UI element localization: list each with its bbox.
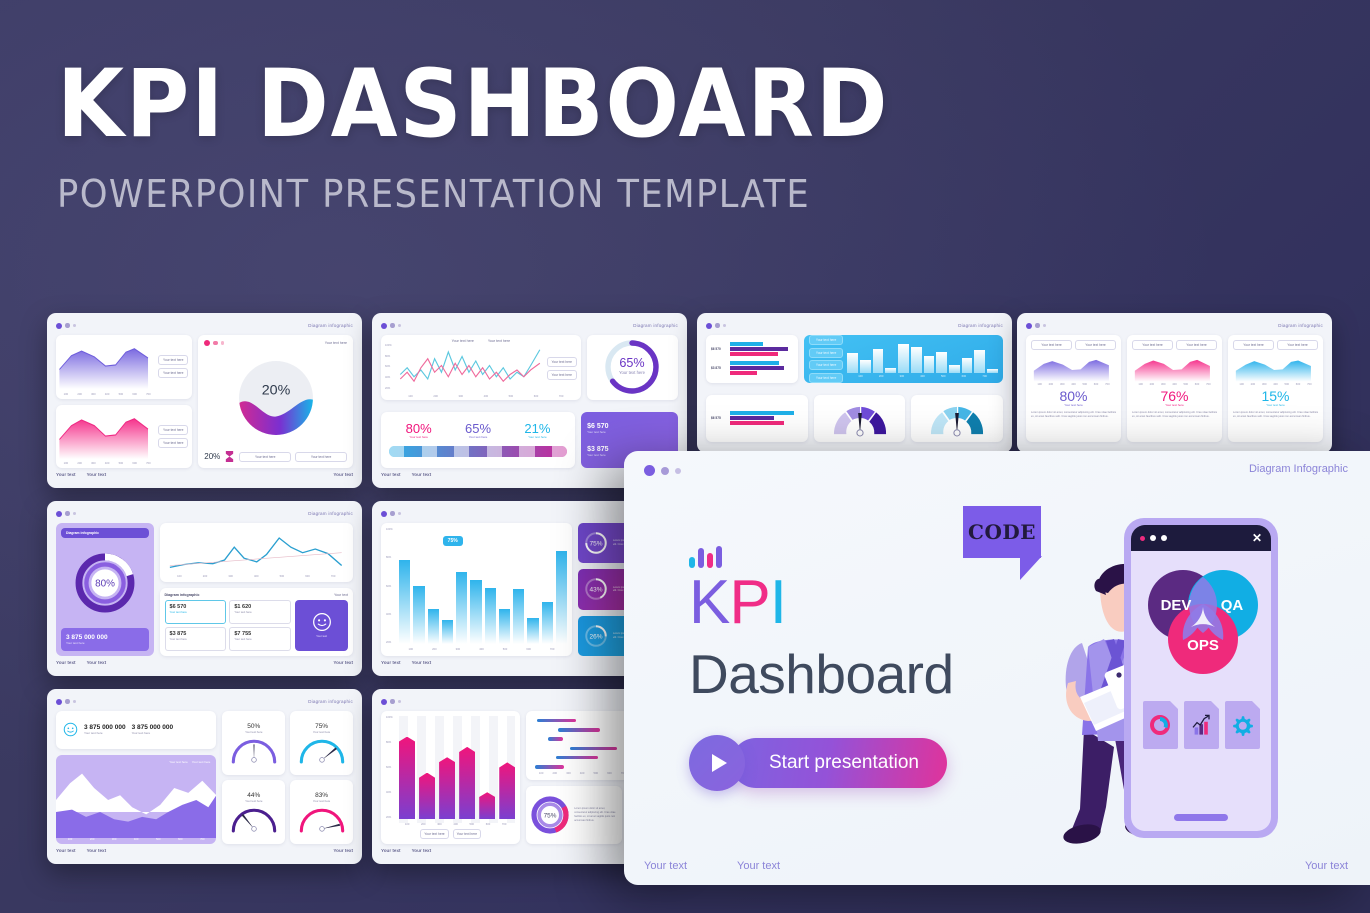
slide-tag: Diagram Infographic (1249, 463, 1348, 475)
thumb-tag: Diagram infographic (958, 323, 1003, 328)
axis-tick: 400 (920, 375, 924, 378)
axis-tick: 100 (1037, 383, 1041, 386)
axis-tick: 600 (1195, 383, 1199, 386)
axis-tick: 400 (254, 575, 258, 578)
footer-text-right: Your text (333, 660, 353, 665)
axis-tick: 200 (1150, 383, 1154, 386)
gauge-card-75[interactable]: 75% Your text here (290, 711, 353, 775)
hourglass-icon (224, 450, 235, 463)
footer-text-right: Your text (333, 472, 353, 477)
gauge-icon-44 (228, 803, 280, 833)
axis-tick: 200 (432, 648, 436, 651)
axis-tick: 600 (305, 575, 309, 578)
footer-text-right: Your text (1305, 860, 1348, 872)
thumb-tag: Diagram infographic (1278, 323, 1323, 328)
window-dots-icon (1026, 323, 1046, 329)
kpi-logo-text: KPI (689, 572, 989, 634)
axis-tick: 400 (1172, 383, 1176, 386)
ring-icon: 26% (583, 623, 609, 649)
axis-tick: 300 (91, 462, 95, 465)
thumb-header: Diagram infographic (56, 321, 353, 330)
window-dots-icon (56, 323, 76, 329)
chip-label[interactable]: Your text here (1233, 340, 1274, 350)
axis-tick: 100 (405, 823, 409, 826)
value-tile[interactable]: $3 875 Your text here (165, 627, 227, 651)
y-axis-tick: 20% (385, 387, 398, 390)
gauge-card-83[interactable]: 83% Your text here (290, 780, 353, 844)
donut-text-card[interactable]: 75% Lorem ipsum dolor sit amet, consecte… (526, 786, 622, 845)
kpi-caption: Your text here (406, 435, 432, 439)
axis-tick: 500 (119, 462, 123, 465)
axis-tick: 700 (1307, 383, 1311, 386)
logo-letter-k: K (689, 568, 729, 637)
ring-icon: 43% (583, 576, 609, 602)
y-axis-tick: 40% (385, 376, 398, 379)
ring-icon: 75% (583, 530, 609, 556)
axis-tick: 600 (132, 393, 136, 396)
stat-caption: Your text here (132, 731, 174, 735)
y-axis-tick: 80% (386, 741, 399, 744)
window-dots-icon (381, 511, 401, 517)
gear-icon (1225, 701, 1260, 749)
footer-text: Your text (381, 660, 401, 665)
axis-tick: 400 (1071, 383, 1075, 386)
smiley-caption: Your text (316, 634, 327, 638)
venn-label-dev: DEV (1161, 597, 1192, 614)
row-label: $3 875 (711, 366, 727, 370)
row-label: $6 570 (711, 347, 727, 351)
axis-tick: 700 (559, 395, 563, 398)
caption: Your text here (234, 610, 286, 614)
axis-tick: 400 (105, 393, 109, 396)
column-chart-pink (399, 716, 515, 823)
slide-thumbnail-area-donut[interactable]: Diagram infographic 100 200 300 400 (47, 313, 362, 488)
axis-tick: 300 (566, 772, 570, 775)
caption: Your text here (170, 610, 222, 614)
chip-label[interactable]: Your text here (809, 335, 843, 345)
kpi-item: 65% Your text here (465, 422, 491, 439)
big-number: 3 875 000 000 (66, 634, 144, 641)
axis-tick: 600 (534, 395, 538, 398)
donut-panel[interactable]: Diagram infographic 80% 3 875 000 000 Yo… (56, 523, 154, 656)
smiley-icon (63, 722, 78, 737)
axis-tick: 100 (68, 838, 72, 841)
gauge-value: 50% (247, 723, 260, 730)
axis-tick: 100 (858, 375, 862, 378)
section-label: Diagram infographic (165, 593, 200, 597)
y-axis-tick: 100% (386, 528, 399, 531)
stat-value: 20% (204, 452, 220, 461)
axis-tick: 300 (900, 375, 904, 378)
panel-label: Your text here (325, 341, 347, 345)
axis-tick: 100 (177, 575, 181, 578)
area-chart-panel[interactable]: Your text here Your text here 100 200 30… (56, 755, 216, 844)
featured-slide[interactable]: Diagram Infographic KPI Dashboard Start … (624, 451, 1370, 885)
value-tile[interactable]: $1 620 Your text here (229, 600, 291, 624)
axis-tick: 100 (408, 395, 412, 398)
metric-body: Lorem ipsum dolor sit amet, consectetur … (1031, 411, 1116, 419)
axis-tick: 700 (982, 375, 986, 378)
slide-thumbnail-three-cards[interactable]: Diagram infographic Your text here Your … (1017, 313, 1332, 453)
area-chart-card-pink[interactable]: 100 200 300 400 500 600 700 Your text he… (56, 405, 192, 469)
metric-value: 15% (1233, 389, 1318, 403)
axis-tick: 700 (331, 575, 335, 578)
chip-label[interactable]: Your text here (1075, 340, 1116, 350)
chip-label[interactable]: Your text here (547, 370, 577, 380)
axis-tick: 200 (77, 393, 81, 396)
gauge-value: 75% (315, 723, 328, 730)
growth-chart-icon (1184, 701, 1219, 749)
row-label: $6 575 (711, 416, 727, 420)
area-chart-purple (56, 335, 158, 393)
axis-tick: 300 (228, 575, 232, 578)
line-chart-dual (398, 343, 547, 395)
line-chart-trend (164, 527, 349, 575)
caption: Your text here (587, 430, 672, 434)
footer-text: Your text (644, 860, 687, 872)
footer-text: Your text (87, 660, 107, 665)
kpi-caption: Your text here (524, 435, 550, 439)
hbar-card-1[interactable]: $6 570 $3 875 (706, 335, 798, 383)
stat-caption: Your text here (84, 731, 126, 735)
metric-caption: Your text here (1031, 403, 1116, 407)
ring-caption: Your text here (619, 371, 646, 376)
axis-tick: 400 (453, 823, 457, 826)
footer-text: Your text (56, 848, 76, 853)
axis-tick: 500 (1285, 383, 1289, 386)
chip-label: Your text here (192, 760, 211, 764)
axis-tick: 500 (470, 823, 474, 826)
hbar-card-2[interactable]: $6 575 (706, 395, 808, 443)
metric-card-purple[interactable]: Your text here Your text here 100 200 30… (1026, 335, 1121, 442)
stat-value: 3 875 000 000 (84, 724, 126, 731)
bar-chart-card[interactable]: 100% 80% 60% 40% 20% (381, 523, 572, 656)
axis-tick: 300 (1060, 383, 1064, 386)
headline-subtitle: POWERPOINT PRESENTATION TEMPLATE (57, 172, 898, 216)
chip-label[interactable]: Your text here (158, 368, 188, 378)
window-dots-icon (56, 511, 76, 517)
y-axis-tick: 40% (386, 613, 399, 616)
axis-tick: 300 (91, 393, 95, 396)
venn-label-ops: OPS (1187, 637, 1219, 654)
page-title: KPI DASHBOARD POWERPOINT PRESENTATION TE… (57, 60, 962, 216)
axis-tick: 700 (146, 393, 150, 396)
blue-bar-chart (847, 340, 998, 375)
section-label-right: Your text (334, 593, 348, 597)
ring-chart-65: 65% Your text here (602, 337, 662, 397)
start-presentation-button[interactable]: Start presentation (731, 738, 947, 788)
axis-tick: 600 (1094, 383, 1098, 386)
axis-tick: 600 (607, 772, 611, 775)
axis-tick: 600 (178, 838, 182, 841)
big-caption: Your text here (66, 641, 144, 645)
gauge-cyan-icon (926, 399, 988, 437)
axis-tick: 100 (64, 393, 68, 396)
bar-chart-blue: 75% (399, 528, 567, 648)
smiley-panel[interactable]: Your text (295, 600, 348, 651)
chip-label[interactable]: Your text here (809, 348, 843, 358)
axis-tick: 500 (503, 648, 507, 651)
thumb-tag: Diagram infographic (308, 699, 353, 704)
axis-tick: 400 (484, 395, 488, 398)
headline-title: KPI DASHBOARD (57, 60, 889, 150)
donut-value: 20% (261, 383, 290, 399)
play-icon[interactable] (689, 735, 745, 791)
axis-tick: 600 (132, 462, 136, 465)
axis-tick: 700 (200, 838, 204, 841)
metric-body: Lorem ipsum dolor sit amet, consectetur … (1132, 411, 1217, 419)
axis-tick: 400 (580, 772, 584, 775)
chip-label[interactable]: Your text here (1277, 340, 1318, 350)
legend-chip[interactable]: Your text here (420, 829, 448, 839)
axis-tick: 400 (479, 648, 483, 651)
y-axis-tick: 20% (386, 816, 399, 819)
close-icon[interactable]: ✕ (1252, 531, 1262, 545)
thumb-tag: Diagram infographic (308, 323, 353, 328)
footer-text: Your text (87, 848, 107, 853)
venn-label-qa: QA (1221, 597, 1244, 614)
thumb-tag: Diagram infographic (308, 511, 353, 516)
chip-label[interactable]: Your text here (809, 360, 843, 370)
logo-letter-p: P (729, 568, 769, 637)
smiley-icon (312, 612, 332, 632)
y-axis-tick: 80% (386, 556, 399, 559)
axis-tick: 200 (879, 375, 883, 378)
axis-tick: 400 (134, 838, 138, 841)
kpi-item: 21% Your text here (524, 422, 550, 439)
gauge-card-44[interactable]: 44% Your text here (222, 780, 285, 844)
gauge-value: 44% (247, 792, 260, 799)
value-cards-card[interactable]: Diagram infographic Your text $6 570 You… (160, 588, 353, 656)
footer-text: Your text (412, 848, 432, 853)
kpi-value: 65% (465, 422, 491, 435)
line-chart-card[interactable]: 100 200 300 400 500 600 700 (160, 523, 353, 582)
metric-value: 80% (1031, 389, 1116, 403)
caption: Your text here (234, 637, 286, 641)
phone-home-indicator (1174, 814, 1228, 821)
donut-chart-80: 80% (74, 552, 136, 614)
column-chart-card[interactable]: 100% 80% 60% 40% 20% 100 200 (381, 711, 520, 844)
venn-diagram: DEV QA OPS (1131, 557, 1271, 687)
y-axis-tick: 20% (386, 641, 399, 644)
segmented-progress-bar[interactable] (389, 446, 567, 457)
axis-tick: 500 (1083, 383, 1087, 386)
chip-label[interactable]: Your text here (158, 438, 188, 448)
chip-label[interactable]: Your text here (547, 357, 577, 367)
footer-text: Your text (412, 660, 432, 665)
chip-label[interactable]: Your text here (809, 373, 843, 383)
ring-value: 65% (620, 356, 645, 370)
axis-tick: 400 (105, 462, 109, 465)
gauge-card-50[interactable]: 50% Your text here (222, 711, 285, 775)
phone-status-bar: ✕ (1131, 525, 1271, 551)
phone-mockup: ✕ DEV QA OPS (1124, 518, 1278, 838)
chip-label[interactable]: Your text here (158, 355, 188, 365)
gauge-card-cyan[interactable] (911, 395, 1003, 443)
kpi-value: 21% (524, 422, 550, 435)
axis-tick: 100 (1239, 383, 1243, 386)
axis-tick: 200 (433, 395, 437, 398)
donut-body: Lorem ipsum dolor sit amet, consectetur … (574, 807, 618, 823)
area-chart-pink (1132, 353, 1217, 383)
kpi-progress-card[interactable]: 80% Your text here 65% Your text here 21… (381, 412, 575, 468)
donut-chart-20: 20% (234, 356, 318, 440)
ring-value: 75% (589, 541, 602, 548)
axis-tick: 200 (203, 575, 207, 578)
axis-tick: 500 (280, 575, 284, 578)
donut-value: 80% (95, 579, 115, 590)
area-chart-white-purple (56, 764, 216, 838)
area-chart-pink (56, 405, 158, 463)
axis-tick: 200 (90, 838, 94, 841)
footer-text: Your text (737, 860, 780, 872)
axis-tick: 300 (112, 838, 116, 841)
footer-text: Your text (381, 472, 401, 477)
gauge-purple-icon (829, 399, 891, 437)
axis-tick: 700 (146, 462, 150, 465)
slide-thumbnail-kpi-gauges[interactable]: Diagram infographic 3 875 000 000 Your t… (47, 689, 362, 864)
stats-card[interactable]: 3 875 000 000 Your text here 3 875 000 0… (56, 711, 216, 749)
caption: Your text here (170, 637, 222, 641)
axis-tick: 600 (1296, 383, 1300, 386)
y-axis-tick: 60% (386, 766, 399, 769)
blue-bar-panel[interactable]: Your text here Your text here Your text … (804, 335, 1003, 383)
ring-value: 43% (589, 587, 602, 594)
chip-label: Your text here (169, 760, 188, 764)
axis-tick: 300 (458, 395, 462, 398)
metric-caption: Your text here (1233, 403, 1318, 407)
axis-tick: 500 (156, 838, 160, 841)
donut-value: 75% (544, 812, 557, 819)
axis-tick: 600 (962, 375, 966, 378)
axis-tick: 200 (1251, 383, 1255, 386)
window-dots-icon (381, 699, 401, 705)
window-dots-icon (381, 323, 401, 329)
axis-tick: 500 (941, 375, 945, 378)
metric-card-cyan[interactable]: Your text here Your text here 100 200 30… (1228, 335, 1323, 442)
chip-label[interactable]: Your text here (239, 452, 291, 462)
tooltip-badge: 75% (443, 536, 463, 546)
axis-tick: 100 (1138, 383, 1142, 386)
gauge-icon-75 (296, 734, 348, 764)
axis-tick: 500 (119, 393, 123, 396)
value-tile[interactable]: $7 755 Your text here (229, 627, 291, 651)
window-dots-icon (706, 323, 726, 329)
axis-tick: 200 (421, 823, 425, 826)
metric-card-pink[interactable]: Your text here Your text here 100 200 30… (1127, 335, 1222, 442)
y-axis-tick: 100% (385, 344, 398, 347)
footer-text-right: Your text (333, 848, 353, 853)
panel-label: Diagram infographic (61, 528, 149, 538)
y-axis-tick: 80% (385, 355, 398, 358)
axis-tick: 500 (1184, 383, 1188, 386)
legend-chip[interactable]: Your text here (453, 829, 481, 839)
axis-tick: 700 (550, 648, 554, 651)
stat-item: 3 875 000 000 Your text here (132, 724, 174, 735)
chip-label[interactable]: Your text here (1176, 340, 1217, 350)
chip-label[interactable]: Your text here (1031, 340, 1072, 350)
chip-label[interactable]: Your text here (295, 452, 347, 462)
footer-text: Your text (87, 472, 107, 477)
axis-tick: 400 (1273, 383, 1277, 386)
axis-tick: 200 (77, 462, 81, 465)
gauge-icon-50 (228, 734, 280, 764)
axis-tick: 600 (526, 648, 530, 651)
value: $6 570 (587, 423, 672, 430)
window-dots-icon (56, 699, 76, 705)
metric-body: Lorem ipsum dolor sit amet, consectetur … (1233, 411, 1318, 419)
gauge-value: 83% (315, 792, 328, 799)
slide-thumbnail-bars-gauges[interactable]: Diagram infographic $6 570 $3 875 (697, 313, 1012, 453)
metric-value: 76% (1132, 389, 1217, 403)
kpi-item: 80% Your text here (406, 422, 432, 439)
axis-tick: 300 (437, 823, 441, 826)
slide-heading: Dashboard (689, 640, 989, 709)
axis-tick: 500 (594, 772, 598, 775)
metric-caption: Your text here (1132, 403, 1217, 407)
y-axis-tick: 60% (386, 585, 399, 588)
area-chart-purple (1031, 353, 1116, 383)
axis-tick: 200 (1049, 383, 1053, 386)
thumb-tag: Diagram infographic (633, 323, 678, 328)
y-axis-tick: 100% (386, 716, 399, 719)
area-chart-card-purple[interactable]: 100 200 300 400 500 600 700 Your text he… (56, 335, 192, 399)
axis-tick: 100 (539, 772, 543, 775)
axis-tick: 500 (509, 395, 513, 398)
axis-tick: 700 (1105, 383, 1109, 386)
footer-text: Your text (381, 848, 401, 853)
kpi-caption: Your text here (465, 435, 491, 439)
axis-tick: 700 (502, 823, 506, 826)
footer-text: Your text (56, 472, 76, 477)
stat-value: 3 875 000 000 (132, 724, 174, 731)
value-tile[interactable]: $6 570 Your text here (165, 600, 227, 624)
kpi-logo-icon (689, 546, 989, 568)
donut-chart-icon (1143, 701, 1178, 749)
y-axis-tick: 40% (386, 791, 399, 794)
ring-card-65[interactable]: 65% Your text here (587, 335, 678, 400)
gauge-icon-83 (296, 803, 348, 833)
footer-text: Your text (56, 660, 76, 665)
y-axis-tick: 60% (385, 365, 398, 368)
axis-tick: 100 (64, 462, 68, 465)
axis-tick: 300 (1161, 383, 1165, 386)
line-chart-card[interactable]: Your text here Your text here 100% 80% 6… (381, 335, 581, 400)
kpi-value: 80% (406, 422, 432, 435)
logo-letter-i: I (770, 568, 786, 637)
chip-label[interactable]: Your text here (158, 425, 188, 435)
ring-value: 26% (589, 633, 602, 640)
axis-tick: 300 (456, 648, 460, 651)
stat-item: 3 875 000 000 Your text here (84, 724, 126, 735)
axis-tick: 200 (553, 772, 557, 775)
gauge-card-purple[interactable] (814, 395, 906, 443)
axis-tick: 700 (1206, 383, 1210, 386)
donut-card[interactable]: Your text here 20% (198, 335, 353, 468)
slide-thumbnail-donut-values[interactable]: Diagram infographic Diagram infographic … (47, 501, 362, 676)
area-chart-cyan (1233, 353, 1318, 383)
value-card: $6 570 Your text here (587, 423, 672, 434)
window-dots-icon (644, 465, 681, 476)
donut-chart-75: 75% (530, 795, 570, 835)
axis-tick: 300 (1262, 383, 1266, 386)
axis-tick: 100 (409, 648, 413, 651)
chip-label[interactable]: Your text here (1132, 340, 1173, 350)
footer-text: Your text (412, 472, 432, 477)
axis-tick: 600 (486, 823, 490, 826)
